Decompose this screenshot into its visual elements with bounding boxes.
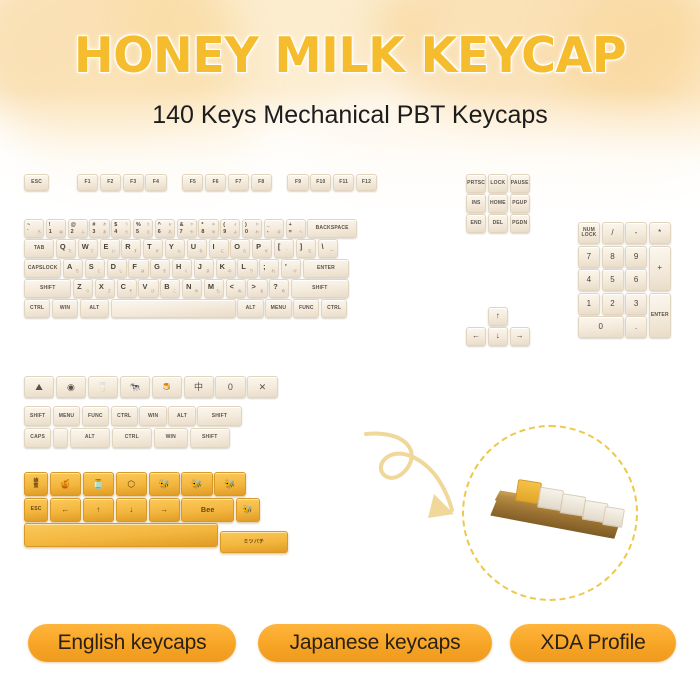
key-legend: Q: [60, 242, 66, 251]
key-f3: F3: [123, 174, 144, 191]
key-capslock: CAPSLOCK: [24, 259, 61, 278]
key-f12: F12: [356, 174, 377, 191]
key-l: Lり: [237, 259, 257, 278]
key-label: 0: [228, 383, 233, 392]
key-2: @2ふ: [68, 219, 88, 238]
key-label: DEL: [493, 221, 504, 226]
key-f11: F11: [333, 174, 354, 191]
key-kana: き: [163, 269, 167, 274]
key-kana-top: ゃ: [190, 222, 194, 227]
key-?: ?め: [269, 279, 289, 298]
key-label: HOME: [490, 201, 506, 206]
key-honey-bee-icon: 🐝: [236, 498, 260, 522]
key-kanji-honey-icon: 蜂蜜: [24, 472, 48, 496]
key-label: ✕: [259, 383, 267, 392]
key-honey-jar-icon: 🫙: [83, 472, 114, 496]
key-label: F6: [213, 180, 219, 185]
key-kana-bottom: え: [146, 230, 150, 235]
key->: >る: [247, 279, 267, 298]
key-shift-left: SHIFT: [24, 279, 71, 298]
key-kana: ゛: [286, 249, 290, 254]
key-novelty-ctrl-3: CTRL: [112, 428, 152, 448]
key--: _-ほ: [264, 219, 284, 238]
key-legend-bottom: 4: [114, 229, 117, 235]
key-label: ◉: [67, 383, 75, 392]
key-6: ^6ぉお: [155, 219, 175, 238]
key-label: F7: [235, 180, 241, 185]
key-=: +=へ: [286, 219, 306, 238]
key-numpad-1: 1: [578, 293, 600, 315]
key-label: ⛰: [35, 383, 43, 392]
key-label: WIN: [166, 435, 176, 440]
key-label: 8: [610, 253, 615, 261]
key-label: ALT: [85, 435, 95, 440]
key-novelty-win-4: WIN: [139, 406, 166, 426]
key-legend: K: [220, 262, 226, 271]
key-f5: F5: [182, 174, 203, 191]
key-legend-bottom: 6: [158, 229, 161, 235]
key-[: [゛: [274, 239, 294, 258]
key-alt-4: ALT: [237, 299, 263, 318]
key-label: 🫙: [93, 480, 104, 489]
key-arrow-down: ↓: [488, 327, 508, 346]
key-kana: せ: [264, 249, 268, 254]
key-label: 0: [598, 323, 603, 331]
key-label: 🐄: [129, 383, 140, 392]
key-<: <ね: [226, 279, 246, 298]
key-legend-bottom: `: [27, 229, 29, 235]
key-legend: ;: [263, 262, 266, 271]
key-label: /: [611, 229, 613, 237]
key-u: Uな: [187, 239, 207, 258]
key-label: WIN: [60, 306, 70, 311]
key-f: Fは: [128, 259, 148, 278]
key-numpad-8: 8: [602, 246, 624, 268]
key-y: Yん: [165, 239, 185, 258]
key-label: 🐝: [159, 480, 170, 489]
key-honey-arrow-up-icon: ↑: [83, 498, 114, 522]
key-legend-top: #: [92, 222, 95, 228]
key-kana: と: [97, 269, 101, 274]
key-label: MENU: [59, 414, 75, 419]
key-legend: V: [142, 282, 147, 291]
key-kana: ち: [75, 269, 79, 274]
key-kana: こ: [173, 289, 177, 294]
key-label: FUNC: [88, 414, 103, 419]
key-legend: X: [99, 282, 104, 291]
key-pudding-icon: 🍮: [152, 376, 182, 398]
key-label: INS: [472, 201, 481, 206]
key-label: .: [635, 323, 637, 331]
key-kana-top: ぁ: [103, 222, 107, 227]
key-label: 🐝: [224, 480, 235, 489]
key-label: ↓: [129, 506, 133, 514]
key-legend: B: [164, 282, 170, 291]
key-legend-top: _: [267, 222, 270, 228]
key-9: (9ょよ: [220, 219, 240, 238]
key-kana: の: [228, 269, 232, 274]
key-legend: [: [278, 242, 281, 251]
key-legend-bottom: 0: [245, 229, 248, 235]
key-;: ;れ: [259, 259, 279, 278]
key-milk-carton-icon: 🥛: [88, 376, 118, 398]
key-label: ↑: [496, 312, 500, 320]
key-numpad-7: 7: [578, 246, 600, 268]
key-f6: F6: [205, 174, 226, 191]
key-label: 蜂蜜: [34, 479, 39, 489]
key-t: Tか: [143, 239, 163, 258]
key-mitsubachi: ミツバチ: [220, 531, 289, 553]
key-win-1: WIN: [52, 299, 78, 318]
key-legend: W: [82, 242, 89, 251]
key-o: Oら: [230, 239, 250, 258]
key-kana: に: [221, 249, 225, 254]
key-label: ENTER: [317, 266, 335, 271]
key-f1: F1: [77, 174, 98, 191]
key-label: CAPS: [30, 435, 45, 440]
key-novelty-func-2: FUNC: [82, 406, 109, 426]
key-legend: <: [230, 282, 235, 291]
key-legend: Y: [169, 242, 174, 251]
badge-xda-profile[interactable]: XDA Profile: [510, 624, 676, 662]
key-kana-top: ぉ: [168, 222, 172, 227]
key-q: Qた: [56, 239, 76, 258]
key-kana: る: [260, 289, 264, 294]
key-label: Bee: [201, 506, 215, 513]
key-legend: I: [213, 242, 215, 251]
key-numpad-6: 6: [625, 269, 647, 291]
key-label: SHIFT: [40, 286, 55, 291]
key-legend: L: [241, 262, 246, 271]
key-kana-bottom: あ: [103, 230, 107, 235]
key-legend-top: *: [201, 222, 203, 228]
key-label: 3: [634, 300, 639, 308]
key-legend: P: [256, 242, 261, 251]
key-label: 9: [634, 253, 639, 261]
product-image-stage: HONEY MILK KEYCAP 140 Keys Mechanical PB…: [0, 0, 700, 700]
key-label: MENU: [271, 306, 287, 311]
key-legend-bottom: 5: [136, 229, 139, 235]
key-label: F12: [362, 180, 371, 185]
key-\: \ー: [318, 239, 338, 258]
key-label: PGUP: [512, 201, 527, 206]
key-label: 🐝: [191, 480, 202, 489]
key-1: !1ぬ: [46, 219, 66, 238]
key-kana: け: [293, 269, 297, 274]
key-numpad-2: 2: [602, 293, 624, 315]
key-label: CAPSLOCK: [28, 266, 58, 271]
key-honey-arrow-left-icon: ←: [50, 498, 81, 522]
key-kana-bottom: お: [168, 230, 172, 235]
key-label: CTRL: [117, 414, 131, 419]
key-]: ]む: [296, 239, 316, 258]
key-numpad-enter: ENTER: [649, 293, 671, 339]
key-label: F5: [190, 180, 196, 185]
key-func-6: FUNC: [293, 299, 319, 318]
key-legend-bottom: 2: [71, 229, 74, 235]
key-novelty-shift-6: SHIFT: [197, 406, 241, 426]
key-label: 7: [587, 253, 592, 261]
key-legend: >: [251, 282, 256, 291]
key-kana: つ: [85, 289, 89, 294]
key-novelty-caps-0: CAPS: [24, 428, 51, 448]
key-honey-dipper-icon: 🍯: [50, 472, 81, 496]
key-legend-top: ): [245, 222, 247, 228]
key-legend: R: [125, 242, 131, 251]
key-kana-bottom: う: [125, 230, 129, 235]
key-cow-icon: 🐄: [120, 376, 150, 398]
key-label: F10: [316, 180, 325, 185]
key-legend: ?: [273, 282, 278, 291]
key-label: ESC: [31, 507, 42, 512]
key-legend: A: [67, 262, 73, 271]
key-arrow-up: ↑: [488, 307, 508, 326]
key-f9: F9: [287, 174, 308, 191]
key-label: WIN: [148, 414, 158, 419]
key-h: Hく: [172, 259, 192, 278]
key-label: 🍮: [161, 383, 172, 392]
key-legend: N: [186, 282, 192, 291]
key-label: ALT: [89, 306, 99, 311]
key-bee-top-icon: 🐝: [214, 472, 245, 496]
key-label: ALT: [177, 414, 187, 419]
key-legend: O: [234, 242, 240, 251]
key-3: #3ぁあ: [89, 219, 109, 238]
curved-arrow-doodle: [360, 428, 470, 533]
key-i: Iに: [209, 239, 229, 258]
key-4: $4ぅう: [111, 219, 131, 238]
key-m: Mも: [204, 279, 224, 298]
key-ctrl-0: CTRL: [24, 299, 50, 318]
key-f7: F7: [228, 174, 249, 191]
key-label: 2: [610, 300, 615, 308]
key-legend-top: @: [71, 222, 76, 228]
key-novelty-shift-5: SHIFT: [190, 428, 230, 448]
key-ctrl-7: CTRL: [321, 299, 347, 318]
key-kana-top: ょ: [234, 222, 238, 227]
key-kana: む: [308, 249, 312, 254]
key-5: %5ぇえ: [133, 219, 153, 238]
key-legend: G: [154, 262, 160, 271]
key-label: 🥛: [97, 383, 108, 392]
key-legend-top: &: [180, 222, 184, 228]
key-legend-top: ^: [158, 222, 161, 228]
key-home: HOME: [488, 194, 508, 213]
key-legend-top: ~: [27, 222, 30, 228]
key-f2: F2: [100, 174, 121, 191]
key-label: →: [160, 506, 168, 514]
key-label: F4: [153, 180, 159, 185]
badge-label: XDA Profile: [540, 631, 645, 655]
key-kana: も: [216, 289, 220, 294]
key-kana: り: [250, 269, 254, 274]
key-honey-spacebar: [24, 523, 218, 547]
key-kana: ー: [330, 249, 334, 254]
key-label: PAUSE: [511, 181, 529, 186]
key-legend-bottom: 1: [49, 229, 52, 235]
key-label: SHIFT: [202, 435, 217, 440]
key-label: ←: [472, 332, 480, 340]
key-kana: は: [141, 269, 145, 274]
key-kana: く: [184, 269, 188, 274]
key-menu-5: MENU: [265, 299, 291, 318]
key-kana: す: [134, 249, 138, 254]
key-label: SHIFT: [312, 286, 327, 291]
key-alt-2: ALT: [80, 299, 109, 318]
key-label: ALT: [246, 306, 256, 311]
key-kana-bottom: わ: [255, 230, 259, 235]
key-legend-top: %: [136, 222, 141, 228]
key-numpad-plus: +: [649, 246, 671, 292]
key-p: Pせ: [252, 239, 272, 258]
key-label: →: [516, 332, 524, 340]
key-label: CTRL: [125, 435, 139, 440]
key-kana: し: [119, 269, 123, 274]
key-label: F11: [339, 180, 348, 185]
badge-english-keycaps[interactable]: English keycaps: [28, 624, 236, 662]
key-': 'け: [281, 259, 301, 278]
key-bee-side-icon: 🐝: [181, 472, 212, 496]
key-onigiri-icon: ⛰: [24, 376, 54, 398]
key-kana: ま: [206, 269, 210, 274]
key-label: F9: [295, 180, 301, 185]
key-label: ↑: [96, 506, 100, 514]
key-kana-bottom: へ: [299, 230, 303, 235]
key-label: ENTER: [651, 313, 669, 318]
key-legend: U: [191, 242, 197, 251]
key-label: 🍯: [60, 480, 71, 489]
key-legend-bottom: 8: [201, 229, 204, 235]
key-label: 🐝: [243, 506, 253, 514]
key-label: CTRL: [30, 306, 44, 311]
key-label: PRTSC: [467, 181, 485, 186]
key-bee-flying-icon: 🐝: [149, 472, 180, 496]
key-label: 中: [194, 383, 203, 392]
key-legend: E: [104, 242, 109, 251]
key-prtsc: PRTSC: [466, 174, 486, 193]
key-kana: ね: [238, 289, 242, 294]
key-kana-top: ぅ: [125, 222, 129, 227]
key-d: Dし: [107, 259, 127, 278]
key-legend-bottom: 7: [180, 229, 183, 235]
key-label: 6: [634, 276, 639, 284]
key-novelty-menu-1: MENU: [53, 406, 80, 426]
key-label: F3: [130, 180, 136, 185]
key-kana-bottom: ほ: [277, 230, 281, 235]
key-honey-arrow-down-icon: ↓: [116, 498, 147, 522]
key-label: *: [658, 229, 661, 237]
key-label: ミツバチ: [243, 540, 264, 545]
key-legend-bottom: 9: [223, 229, 226, 235]
key-numpad-5: 5: [602, 269, 624, 291]
key-kana: ん: [177, 249, 181, 254]
key-8: *8ゅゆ: [198, 219, 218, 238]
key-label: FUNC: [299, 306, 314, 311]
key-numpad-0: 0: [578, 316, 624, 338]
key-spacebar: [111, 299, 236, 318]
key-kana: さ: [107, 289, 111, 294]
key-legend: ': [285, 262, 287, 271]
key-`: ~`ろ: [24, 219, 44, 238]
key-legend: Z: [77, 282, 82, 291]
key-honey-esc-key: ESC: [24, 498, 48, 522]
key-legend-top: +: [289, 222, 292, 228]
key-legend-top: (: [223, 222, 225, 228]
key-kana: か: [155, 249, 159, 254]
key-label: F8: [258, 180, 264, 185]
key-label: LOCK: [490, 181, 505, 186]
key-kana-top: ぇ: [146, 222, 150, 227]
key-label: 5: [610, 276, 615, 284]
key-shift-right: SHIFT: [291, 279, 349, 298]
key-novelty-ctrl-3: CTRL: [111, 406, 138, 426]
key-legend: ]: [300, 242, 303, 251]
key-pause: PAUSE: [510, 174, 530, 193]
key-tab: TAB: [24, 239, 54, 258]
key-pgup: PGUP: [510, 194, 530, 213]
key-label: F1: [84, 180, 90, 185]
key-novelty-shift-0: SHIFT: [24, 406, 51, 426]
key-g: Gき: [150, 259, 170, 278]
key-legend: H: [176, 262, 182, 271]
key-honeycomb-icon: ⬡: [116, 472, 147, 496]
key-label: PGDN: [512, 221, 527, 226]
key-legend: \: [322, 242, 324, 251]
key-label: 4: [587, 276, 592, 284]
badge-japanese-keycaps[interactable]: Japanese keycaps: [258, 624, 492, 662]
key-lock: LOCK: [488, 174, 508, 193]
key-chopsticks-icon: ✕: [247, 376, 277, 398]
key-kana: れ: [272, 269, 276, 274]
key-v: Vひ: [138, 279, 158, 298]
key-ins: INS: [466, 194, 486, 213]
key-del: DEL: [488, 214, 508, 233]
page-title: HONEY MILK KEYCAP: [11, 27, 690, 84]
key-legend: T: [147, 242, 152, 251]
key-novelty-blank: [53, 428, 68, 448]
key-legend-bottom: -: [267, 229, 269, 235]
key-label: CTRL: [327, 306, 341, 311]
badge-label: Japanese keycaps: [290, 631, 461, 655]
key-kana: な: [199, 249, 203, 254]
key-0: )0ゎわ: [242, 219, 262, 238]
key-label: NUMLOCK: [582, 228, 597, 238]
key-label: ESC: [31, 180, 42, 185]
key-x: Xさ: [95, 279, 115, 298]
key-f10: F10: [310, 174, 331, 191]
key-kana: そ: [129, 289, 133, 294]
key-kana: て: [90, 249, 94, 254]
key-7: &7ゃや: [177, 219, 197, 238]
key-kana-top: ゅ: [212, 222, 216, 227]
key-numpad--: -: [625, 222, 647, 244]
key-legend-top: !: [49, 222, 51, 228]
key-backspace: BACKSPACE: [307, 219, 356, 238]
key-label: TAB: [34, 246, 45, 251]
key-zero-icon: 0: [215, 376, 245, 398]
key-label: +: [657, 264, 662, 272]
key-label: ←: [61, 506, 69, 514]
key-z: Zつ: [73, 279, 93, 298]
key-label: ↓: [496, 332, 500, 340]
key-esc: ESC: [24, 174, 49, 191]
key-s: Sと: [85, 259, 105, 278]
key-enter: ENTER: [303, 259, 349, 278]
key-legend: M: [208, 282, 214, 291]
key-kana: み: [194, 289, 198, 294]
key-legend-bottom: =: [289, 229, 292, 235]
key-kana: い: [112, 249, 116, 254]
